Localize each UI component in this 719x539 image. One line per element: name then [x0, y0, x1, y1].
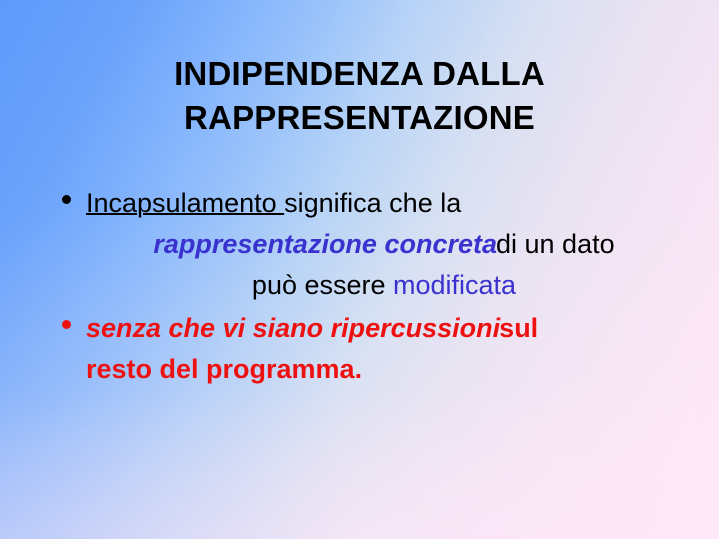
- run-rappresentazione-concreta: rappresentazione concreta: [153, 229, 497, 259]
- round-bullet-icon: [62, 195, 71, 204]
- bullet-1-line-2: rappresentazione concretadi un dato: [86, 224, 682, 265]
- bullet-2-line-1: senza che vi siano ripercussionisul: [86, 308, 682, 349]
- run-sul: sul: [499, 313, 538, 343]
- slide-canvas: INDIPENDENZA DALLA RAPPRESENTAZIONE Inca…: [0, 0, 719, 539]
- run-di-un-dato: di un dato: [496, 229, 615, 259]
- run-puo-essere: può essere: [252, 270, 393, 300]
- title-line-1: INDIPENDENZA DALLA: [0, 52, 719, 96]
- list-item: senza che vi siano ripercussionisul rest…: [52, 308, 682, 390]
- bullet-list: Incapsulamento significa che la rapprese…: [52, 183, 682, 392]
- round-bullet-icon-red: [62, 320, 71, 329]
- title-line-2: RAPPRESENTAZIONE: [0, 96, 719, 140]
- list-item: Incapsulamento significa che la rapprese…: [52, 183, 682, 306]
- bullet-1-line-3: può essere modificata: [86, 265, 682, 306]
- bullet-1-line-1: Incapsulamento significa che la: [86, 183, 682, 224]
- run-significa-che-la: significa che la: [284, 188, 461, 218]
- bullet-2-line-2: resto del programma.: [86, 349, 682, 390]
- run-senza-che-vi-siano-ripercussioni: senza che vi siano ripercussioni: [86, 313, 500, 343]
- slide-content: INDIPENDENZA DALLA RAPPRESENTAZIONE Inca…: [0, 0, 719, 539]
- run-incapsulamento: Incapsulamento: [86, 188, 284, 218]
- run-resto-del-programma: resto del programma.: [86, 354, 362, 384]
- run-modificata: modificata: [393, 270, 516, 300]
- slide-title: INDIPENDENZA DALLA RAPPRESENTAZIONE: [0, 52, 719, 140]
